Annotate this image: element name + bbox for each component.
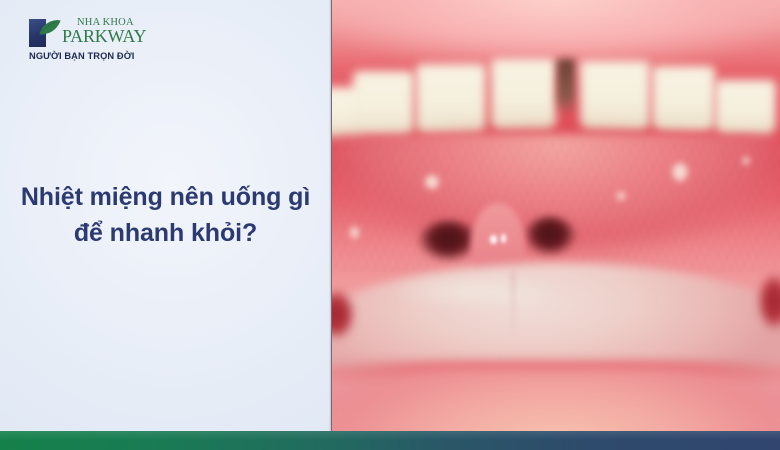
left-text-panel: NHA KHOA PARKWAY NGƯỜI BẠN TRỌN ĐỜI Nhiệ… (0, 0, 331, 431)
brand-logo[interactable]: NHA KHOA PARKWAY NGƯỜI BẠN TRỌN ĐỜI (29, 17, 164, 61)
logo-row: NHA KHOA PARKWAY (29, 17, 164, 48)
mucosa-pale-spot (615, 190, 627, 202)
tongue-midline-crease (512, 272, 514, 341)
logo-tagline: NGƯỜI BẠN TRỌN ĐỜI (29, 51, 164, 61)
headline-line-1: Nhiệt miệng nên uống gì (0, 180, 331, 216)
tonsillar-fossa-right (523, 216, 577, 261)
tongue-coating (359, 267, 592, 314)
specular-highlight (490, 235, 496, 244)
mucosa-pale-spot (422, 172, 442, 191)
promo-banner: NHA KHOA PARKWAY NGƯỜI BẠN TRỌN ĐỜI Nhiệ… (0, 0, 780, 450)
headline-line-2: để nhanh khỏi? (0, 216, 331, 252)
open-mouth-throat-photo (331, 0, 780, 431)
tooth-gap-shadow (557, 59, 576, 115)
leaf-logo-icon (29, 18, 61, 48)
photo-base-layer (332, 0, 780, 431)
logo-line-main: PARKWAY (62, 27, 146, 45)
leaf-icon (38, 19, 61, 36)
bar-sheen (0, 431, 780, 440)
headline: Nhiệt miệng nên uống gì để nhanh khỏi? (0, 180, 331, 251)
bottom-accent-bar (0, 431, 780, 450)
logo-wordmark: NHA KHOA PARKWAY (62, 17, 146, 45)
lower-lip (331, 366, 780, 431)
